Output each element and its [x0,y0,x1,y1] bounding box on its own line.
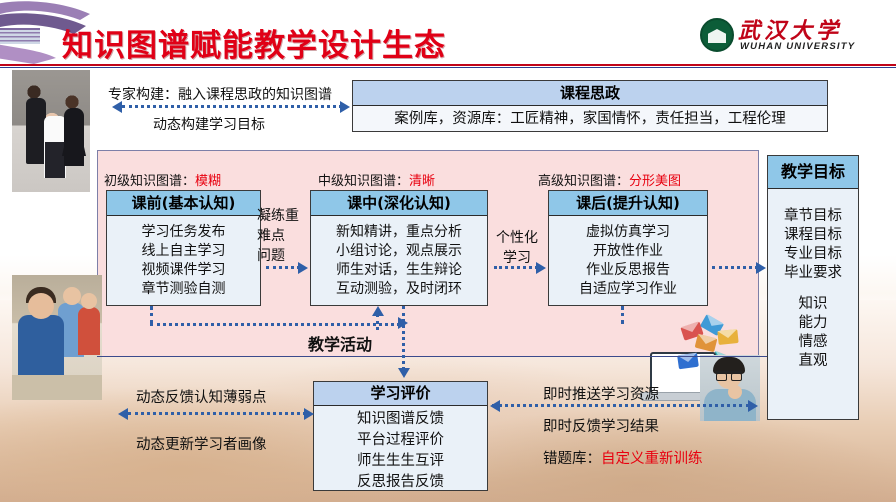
list-item: 新知精讲，重点分析 [311,223,487,242]
ideology-box-content: 案例库，资源库：工匠精神，家国情怀，责任担当，工程伦理 [353,106,827,133]
stage-box-pre-class-title: 课前(基本认知) [107,191,260,216]
stage-box-in-class-items: 新知精讲，重点分析 小组讨论，观点展示 师生对话，生生辩论 互动测验，及时闭环 [311,216,487,299]
arrow-post-box-down [620,306,626,324]
stage-label-advanced-prefix: 高级知识图谱： [538,174,629,189]
arrow-post-to-goals [712,262,770,274]
list-item: 章节目标 [768,207,858,226]
connector-line: 凝练重 [257,206,299,226]
stage-label-primary: 初级知识图谱：模糊 [104,170,221,189]
goals-group-spacer [768,283,858,295]
teaching-activity-label: 教学活动 [308,331,372,355]
stage-label-advanced: 高级知识图谱：分形美图 [538,170,681,189]
list-item: 开放性作业 [549,242,707,261]
connector-line: 个性化 [492,228,542,248]
list-item: 反思报告反馈 [314,472,487,493]
list-item: 虚拟仿真学习 [549,223,707,242]
list-item: 章节测验自测 [107,280,260,299]
list-item: 毕业要求 [768,264,858,283]
ideology-box: 课程思政 案例库，资源库：工匠精神，家国情怀，责任担当，工程伦理 [352,80,828,132]
stage-box-after-class-items: 虚拟仿真学习 开放性作业 作业反思报告 自适应学习作业 [549,216,707,299]
list-item: 专业目标 [768,245,858,264]
page-title: 知识图谱赋能教学设计生态 [62,20,446,65]
list-item: 互动测验，及时闭环 [311,280,487,299]
stage-box-in-class-title: 课中(深化认知) [311,191,487,216]
connector-line: 难点 [257,226,299,246]
stage-box-pre-class-items: 学习任务发布 线上自主学习 视频课件学习 章节测验自测 [107,216,260,299]
list-item: 自适应学习作业 [549,280,707,299]
arrow-eval-incoming [490,400,504,412]
stage-box-after-class: 课后(提升认知) 虚拟仿真学习 开放性作业 作业反思报告 自适应学习作业 [548,190,708,306]
envelope-icon [695,334,718,352]
push-label-results: 即时反馈学习结果 [543,415,659,436]
stage-label-intermediate: 中级知识图谱：清晰 [318,170,435,189]
logo-english-name: WUHAN UNIVERSITY [740,41,855,52]
teaching-goals-panel: 教学目标 章节目标 课程目标 专业目标 毕业要求 知识 能力 情感 直观 [767,155,859,420]
list-item: 知识图谱反馈 [314,409,487,430]
stage-label-advanced-value: 分形美图 [629,174,681,189]
push-label-value: 自定义重新训练 [601,451,703,467]
arrow-activity-flow [150,306,410,330]
photo-teaching-team [12,70,90,192]
push-label-prefix: 错题库： [543,451,601,467]
stage-box-pre-class: 课前(基本认知) 学习任务发布 线上自主学习 视频课件学习 章节测验自测 [106,190,261,306]
arrow-push-to-right [492,400,762,412]
arrow-pre-to-mid [266,262,310,274]
ideology-box-title: 课程思政 [353,81,827,106]
panel-bottom-rule [97,356,857,357]
list-item: 学习任务发布 [107,223,260,242]
photo-classroom-students [12,275,102,400]
stage-label-primary-prefix: 初级知识图谱： [104,174,195,189]
list-item: 师生生生互评 [314,451,487,472]
list-item: 小组讨论，观点展示 [311,242,487,261]
university-crest-icon [700,18,734,52]
list-item: 作业反思报告 [549,261,707,280]
stage-box-in-class: 课中(深化认知) 新知精讲，重点分析 小组讨论，观点展示 师生对话，生生辩论 互… [310,190,488,306]
list-item: 直观 [768,352,858,371]
teaching-goals-items: 章节目标 课程目标 专业目标 毕业要求 知识 能力 情感 直观 [768,189,858,371]
stage-label-intermediate-value: 清晰 [409,174,435,189]
feedback-label-learner-profile: 动态更新学习者画像 [136,433,267,454]
list-item: 能力 [768,314,858,333]
connector-label-condense: 凝练重 难点 问题 [257,206,299,266]
arrow-down-to-evaluation [398,306,412,382]
list-item: 平台过程评价 [314,430,487,451]
teaching-goals-title: 教学目标 [768,156,858,189]
learning-evaluation-box: 学习评价 知识图谱反馈 平台过程评价 师生生生互评 反思报告反馈 [313,381,488,491]
list-item: 知识 [768,295,858,314]
list-item: 情感 [768,333,858,352]
list-item: 线上自主学习 [107,242,260,261]
feedback-label-weak-points: 动态反馈认知薄弱点 [136,386,267,407]
stage-label-primary-value: 模糊 [195,174,221,189]
push-label-wrong-question-bank: 错题库：自定义重新训练 [543,447,703,468]
stage-label-intermediate-prefix: 中级知识图谱： [318,174,409,189]
slide-canvas: 知识图谱赋能教学设计生态 武汉大学 WUHAN UNIVERSITY 课程思政 … [0,0,896,502]
dynamic-goal-label: 动态构建学习目标 [153,114,265,134]
university-logo: 武汉大学 WUHAN UNIVERSITY [700,14,860,56]
learning-evaluation-items: 知识图谱反馈 平台过程评价 师生生生互评 反思报告反馈 [314,406,487,493]
arrow-up-from-evaluation [372,306,386,330]
envelope-icon [717,329,738,345]
arrow-mid-to-post [494,262,550,274]
arrow-feedback-bidirectional [118,408,314,420]
learning-evaluation-title: 学习评价 [314,382,487,406]
list-item: 师生对话，生生辩论 [311,261,487,280]
header-blue-rule [0,67,896,68]
stage-box-after-class-title: 课后(提升认知) [549,191,707,216]
list-item: 视频课件学习 [107,261,260,280]
arrow-expert-ideology [112,101,350,113]
list-item: 课程目标 [768,226,858,245]
